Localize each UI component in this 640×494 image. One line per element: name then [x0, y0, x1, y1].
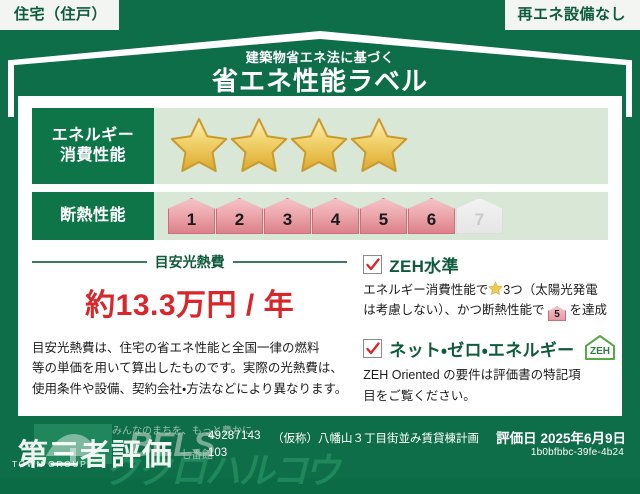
label-body-card: エネルギー 消費性能 断熱性能 1234567 目安光熱費 約13.3万	[18, 96, 622, 416]
date-value: 2025年6月9日	[540, 431, 626, 446]
footer-evaluation-date: 評価日 2025年6月9日	[496, 427, 626, 447]
insulation-level-strip: 1234567	[168, 198, 503, 234]
star-icon	[228, 116, 290, 176]
insulation-level-badge: 4	[312, 198, 359, 234]
date-label: 評価日	[496, 431, 537, 446]
net-zero-energy-title: ネット・ゼロ・エネルギー	[389, 336, 574, 361]
lower-section: 目安光熱費 約13.3万円 / 年 目安光熱費は、住宅の省エネ性能と全国一律の燃…	[32, 252, 608, 422]
insulation-level-badge: 7	[456, 198, 503, 234]
zeh-standard-body-line1: エネルギー消費性能で3つ（太陽光発電	[363, 280, 617, 300]
insulation-performance-row: 断熱性能 1234567	[32, 192, 608, 240]
zeh-body-text: を達成	[570, 303, 608, 317]
zeh-house-logo-icon: ZEH	[583, 334, 617, 362]
title-block: 建築物省エネ法に基づく 省エネ性能ラベル	[8, 51, 632, 97]
zeh-column: ZEH水準 エネルギー消費性能で3つ（太陽光発電 は考慮しない）、かつ断熱性能で…	[357, 252, 617, 422]
zeh-body-text: エネルギー消費性能で	[363, 283, 488, 297]
zeh-body-text: は考慮しない）、かつ断熱性能で	[363, 303, 544, 317]
cost-note-line: 目安光熱費は、住宅の省エネ性能と全国一律の燃料	[32, 338, 347, 358]
utility-cost-amount: 約13.3万円 / 年	[32, 280, 347, 324]
insulation-level-badge: 5	[360, 198, 407, 234]
utility-cost-note: 目安光熱費は、住宅の省エネ性能と全国一律の燃料 等の単価を用いて算出したものです…	[32, 338, 347, 399]
footer-project-name: （仮称）八幡山３丁目街並み賃貸棟計画	[272, 430, 479, 446]
utility-cost-heading: 目安光熱費	[32, 252, 347, 272]
insulation-label-text: 断熱性能	[60, 206, 126, 226]
energy-label-line1: エネルギー	[52, 126, 135, 146]
star-icon	[168, 116, 230, 176]
energy-performance-row: エネルギー 消費性能	[32, 108, 608, 184]
net-zero-energy-body: ZEH Oriented の要件は評価書の特記項 目をご覧ください。	[363, 365, 617, 406]
heading-rule-left	[32, 261, 147, 263]
insulation-level-badge: 3	[264, 198, 311, 234]
net-zero-body-line1: ZEH Oriented の要件は評価書の特記項	[363, 365, 617, 385]
third-party-evaluation-watermark: 第三者評価	[18, 430, 173, 474]
label-title: 省エネ性能ラベル	[8, 67, 632, 97]
energy-performance-label: エネルギー 消費性能	[32, 108, 154, 184]
zeh-standard-body: エネルギー消費性能で3つ（太陽光発電 は考慮しない）、かつ断熱性能で 5 を達成	[363, 280, 617, 321]
footer-uuid: 1b0bfbbc-39fe-4b24	[531, 447, 624, 458]
label-subtitle: 建築物省エネ法に基づく	[8, 51, 632, 65]
star-icon	[288, 116, 350, 176]
cost-note-line: 等の単価を用いて算出したものです。実際の光熱費は、	[32, 358, 347, 378]
star-icon	[348, 116, 410, 176]
footer-id-number: 49287143	[208, 430, 261, 442]
cost-note-line: 使用条件や設備、契約会社・方法などにより異なります。	[32, 379, 347, 399]
insulation-level-badge: 2	[216, 198, 263, 234]
zeh-standard-check: ZEH水準	[363, 252, 617, 277]
insulation-level-badge: 6	[408, 198, 455, 234]
net-zero-energy-check: ネット・ゼロ・エネルギー ZEH	[363, 334, 617, 362]
utility-cost-column: 目安光熱費 約13.3万円 / 年 目安光熱費は、住宅の省エネ性能と全国一律の燃…	[32, 252, 357, 422]
checkbox-checked-icon	[363, 339, 382, 358]
energy-label-line2: 消費性能	[60, 146, 126, 166]
insulation-level-badge: 1	[168, 198, 215, 234]
insulation-badge-inline: 5	[548, 306, 566, 321]
energy-label-root: 住宅（住戸） 再エネ設備なし 建築物省エネ法に基づく 省エネ性能ラベル エネルギ…	[0, 0, 640, 478]
checkbox-checked-icon	[363, 255, 382, 274]
star-icon	[488, 281, 503, 296]
star-rating	[154, 108, 608, 184]
zeh-standard-body-line2: は考慮しない）、かつ断熱性能で 5 を達成	[363, 300, 617, 321]
heading-rule-right	[233, 261, 348, 263]
net-zero-body-line2: 目をご覧ください。	[363, 386, 617, 406]
renewable-equipment-tag: 再エネ設備なし	[505, 0, 640, 30]
zeh-standard-title: ZEH水準	[389, 252, 459, 277]
label-footer: TOWN GROUP みんなのまちを、もっと豊かに BELS ククロハルコウ 第…	[0, 416, 640, 478]
utility-cost-heading-text: 目安光熱費	[155, 252, 225, 272]
dwelling-type-tag: 住宅（住戸）	[0, 0, 119, 30]
svg-text:ZEH: ZEH	[590, 346, 610, 357]
insulation-performance-label: 断熱性能	[32, 192, 154, 240]
footer-sub-number: 103	[208, 447, 227, 459]
zeh-body-text: 3つ（太陽光発電	[503, 283, 597, 297]
